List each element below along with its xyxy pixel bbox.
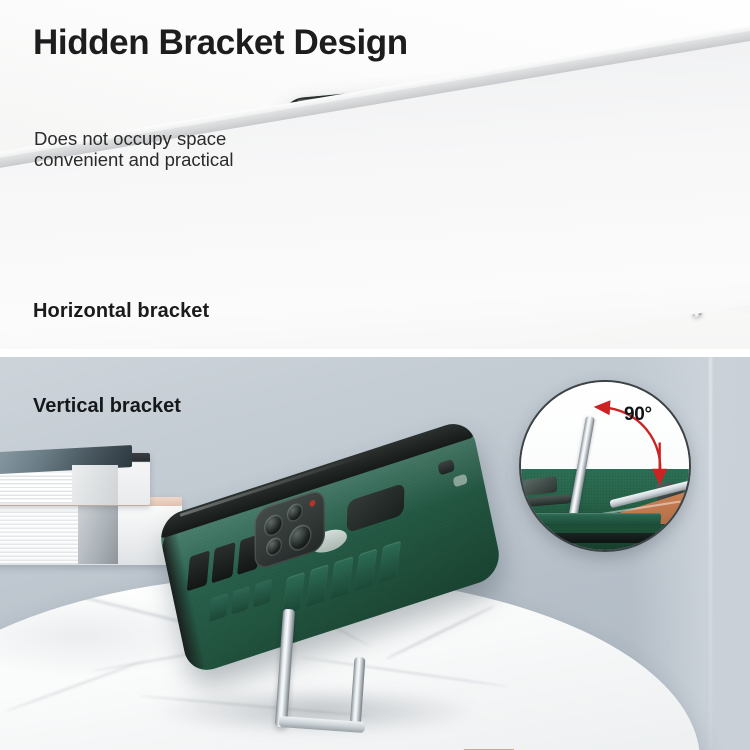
subtitle-line-2: convenient and practical bbox=[34, 149, 424, 170]
headline-text: Hidden Bracket Design bbox=[33, 22, 433, 63]
caption-horizontal-bracket: Horizontal bracket bbox=[33, 300, 209, 323]
book-upper-side bbox=[72, 465, 118, 505]
panel-divider bbox=[0, 349, 750, 357]
camera-lens-main-bottom bbox=[289, 521, 312, 554]
panel-horizontal-bracket: I WANT PERSONALITY NOT TRIVIAL Hidden bbox=[0, 0, 750, 349]
caption-vertical-bracket: Vertical bracket bbox=[33, 395, 181, 418]
angle-arrow-icon bbox=[521, 382, 689, 550]
angle-label: 90° bbox=[624, 404, 652, 426]
marble-vein bbox=[4, 659, 146, 712]
camera-lens-1-bottom bbox=[264, 512, 283, 539]
camera-lens-3-bottom bbox=[266, 535, 282, 558]
background-wall-edge bbox=[709, 357, 712, 750]
page-title: Hidden Bracket Design bbox=[33, 22, 433, 63]
book-lower-side bbox=[78, 506, 118, 564]
camera-lens-2-bottom bbox=[287, 501, 303, 524]
camera-indicator-dot-bottom bbox=[310, 499, 316, 507]
panel-vertical-bracket: Vertical bracket bbox=[0, 357, 750, 750]
product-feature-page: I WANT PERSONALITY NOT TRIVIAL Hidden bbox=[0, 0, 750, 750]
page-subtitle: Does not occupy space convenient and pra… bbox=[34, 128, 424, 170]
marble-vein bbox=[301, 656, 509, 687]
subtitle-line-1: Does not occupy space bbox=[34, 128, 424, 149]
marble-vein bbox=[386, 605, 495, 660]
angle-callout-circle: 90° bbox=[519, 380, 691, 552]
